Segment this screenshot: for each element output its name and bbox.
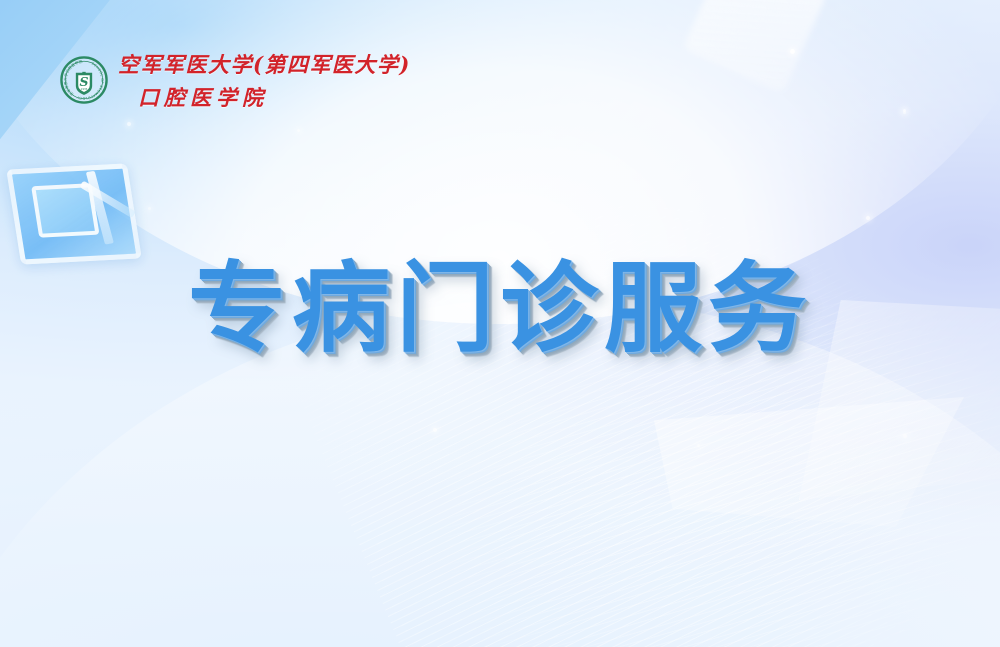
institution-name-line-1: 空军军医大学(第四军医大学) — [118, 52, 411, 78]
sparkle-dot — [790, 49, 795, 54]
page-title: 专病门诊服务 — [188, 258, 812, 361]
sparkle-dot — [297, 129, 300, 132]
sparkle-dot — [697, 444, 700, 447]
sparkle-dot — [148, 207, 151, 210]
sparkle-dot — [903, 434, 907, 438]
sparkle-dot — [433, 428, 437, 432]
university-seal-emblem-icon: SCHOOL OF STOMATOLOGY 空军军医大学口腔医学院 S 1935 — [60, 56, 108, 104]
svg-text:S: S — [79, 74, 88, 89]
institution-logo-lockup: SCHOOL OF STOMATOLOGY 空军军医大学口腔医学院 S 1935… — [60, 52, 411, 112]
sparkle-dot — [866, 216, 870, 220]
svg-text:1935: 1935 — [81, 87, 88, 91]
institution-name-block: 空军军医大学(第四军医大学) 口腔医学院 — [118, 52, 411, 112]
institution-name-line-2: 口腔医学院 — [138, 85, 411, 111]
sparkle-dot — [903, 111, 906, 114]
sparkle-dot — [127, 122, 131, 126]
slide-title-area: 专病门诊服务 — [0, 258, 1000, 361]
isometric-glass-screen-decoration — [6, 163, 142, 264]
title-slide: SCHOOL OF STOMATOLOGY 空军军医大学口腔医学院 S 1935… — [0, 0, 1000, 647]
